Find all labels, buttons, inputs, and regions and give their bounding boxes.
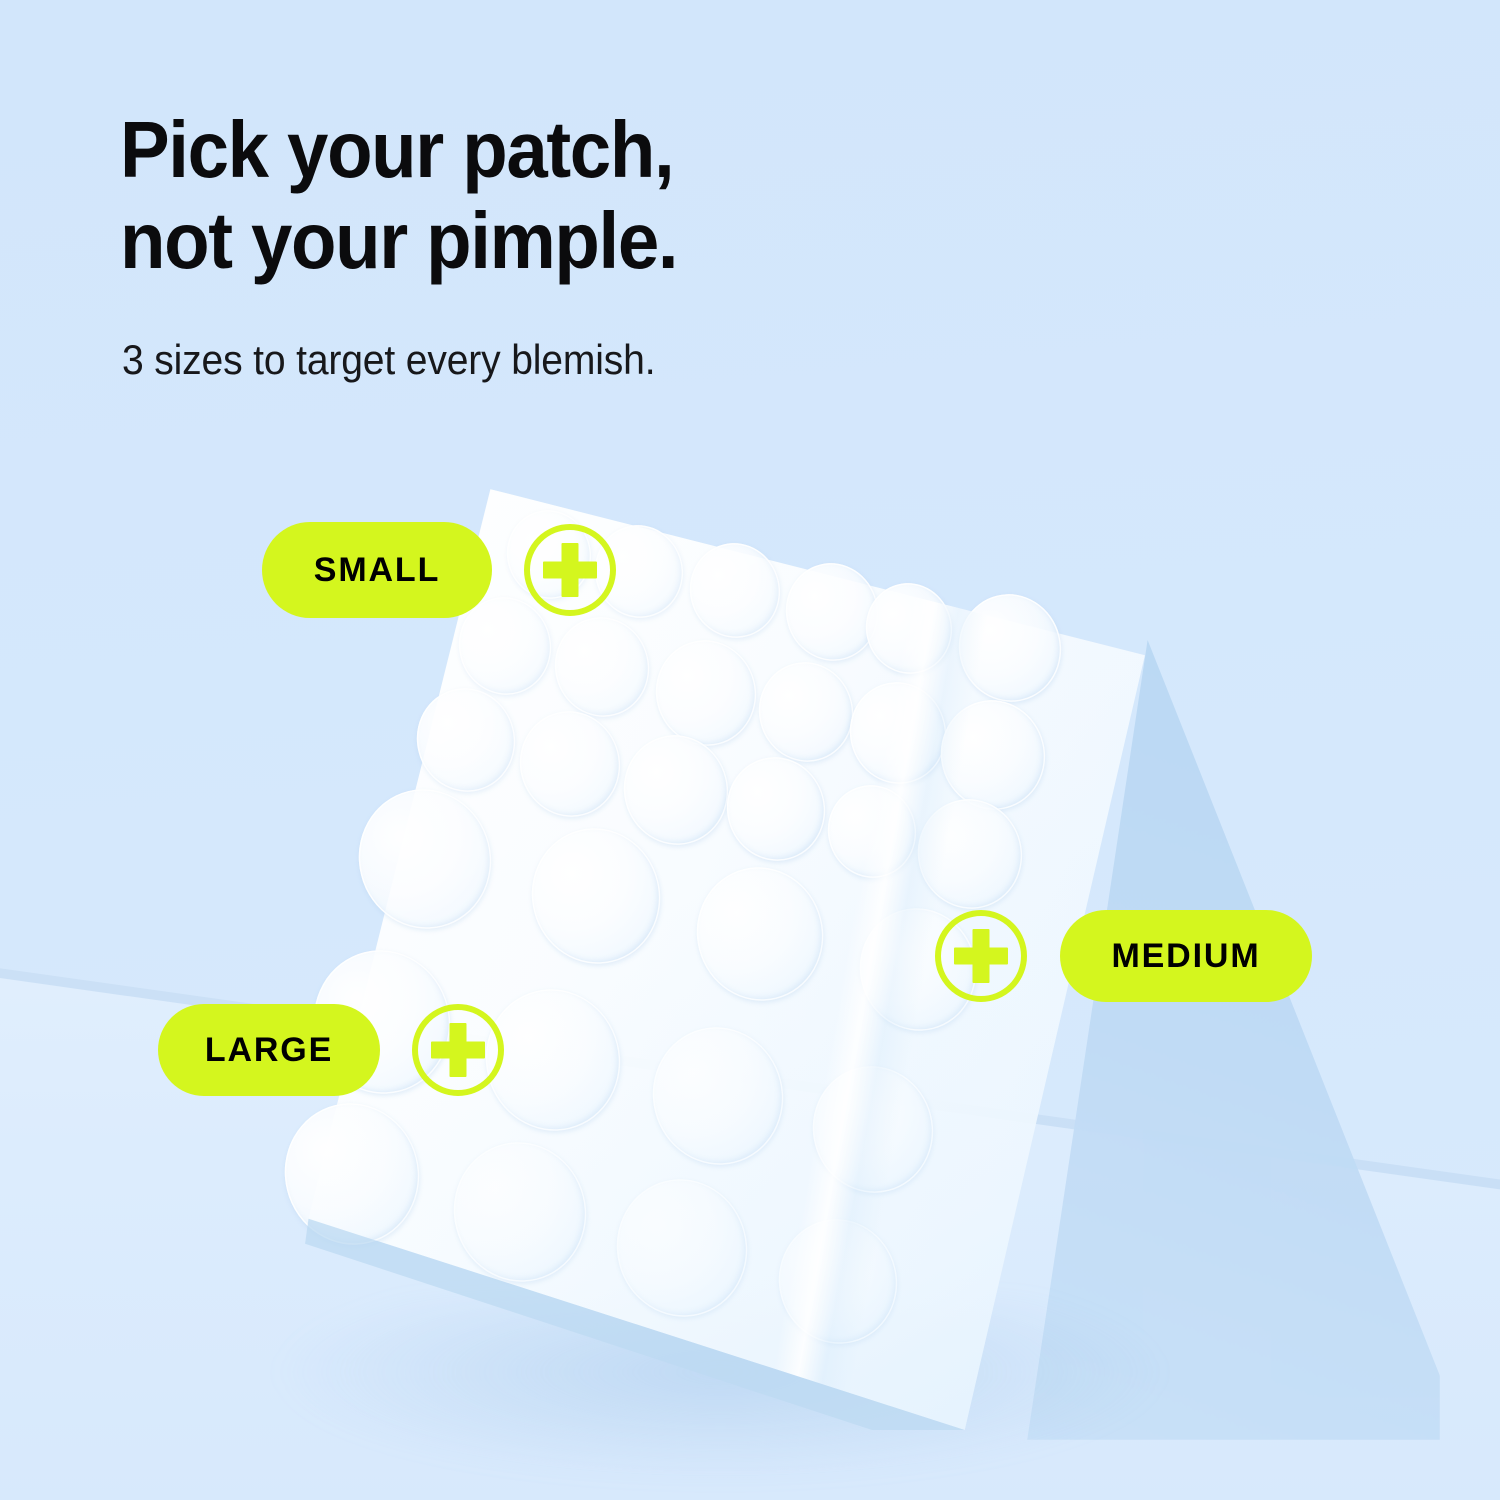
product-hero-image: SMALLMEDIUMLARGE Pick your patch, not yo… xyxy=(0,0,1500,1500)
plus-circle-icon-small[interactable] xyxy=(524,524,616,616)
page-title: Pick your patch, not your pimple. xyxy=(120,104,677,286)
plus-circle-icon-medium[interactable] xyxy=(935,910,1027,1002)
subtitle: 3 sizes to target every blemish. xyxy=(122,336,655,384)
size-badge-label-large: LARGE xyxy=(205,1033,333,1067)
headline-line-1: Pick your patch, xyxy=(120,104,677,195)
plus-circle-icon-large[interactable] xyxy=(412,1004,504,1096)
size-badge-medium[interactable]: MEDIUM xyxy=(1060,910,1312,1002)
size-badge-label-small: SMALL xyxy=(314,553,440,587)
size-badge-small[interactable]: SMALL xyxy=(262,522,492,618)
headline-line-2: not your pimple. xyxy=(120,195,677,286)
size-badge-label-medium: MEDIUM xyxy=(1111,939,1260,973)
size-badge-large[interactable]: LARGE xyxy=(158,1004,380,1096)
